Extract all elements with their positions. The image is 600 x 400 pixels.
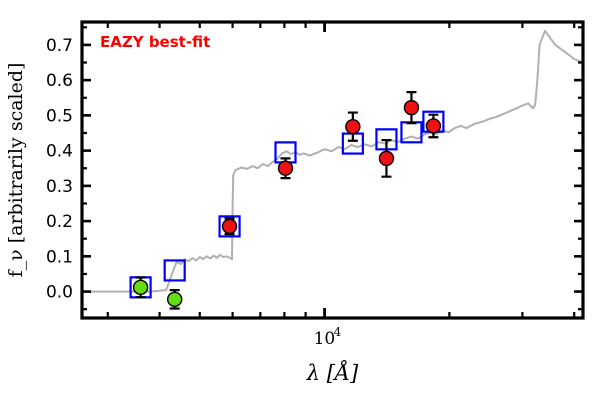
y-axis-label: f_ν [arbitrarily scaled] <box>5 63 27 278</box>
data-point-marker <box>168 292 182 306</box>
data-point-marker <box>134 280 148 294</box>
x-tick-label: 104 <box>314 325 342 349</box>
y-tick-label: 0.2 <box>46 212 73 232</box>
y-tick-label: 0.1 <box>46 247 73 267</box>
data-point-marker <box>379 151 393 165</box>
data-point-marker <box>426 119 440 133</box>
model-spectrum-line <box>82 31 583 292</box>
data-point-marker <box>223 219 237 233</box>
figure-canvas: 0.00.10.20.30.40.50.60.7104λ [Å]f_ν [arb… <box>0 0 600 400</box>
data-point-group <box>379 140 393 177</box>
y-tick-label: 0.0 <box>46 283 73 303</box>
data-point-group <box>404 92 418 123</box>
data-point-marker <box>404 101 418 115</box>
sed-plot: 0.00.10.20.30.40.50.60.7104λ [Å]f_ν [arb… <box>0 0 600 400</box>
eazy-bestfit-annotation: EAZY best-fit <box>100 33 210 51</box>
data-point-group <box>134 277 148 297</box>
axes-frame <box>82 22 583 318</box>
y-tick-label: 0.5 <box>46 106 73 126</box>
data-point-group <box>223 219 237 235</box>
x-tick-label-base: 10 <box>314 329 336 349</box>
x-tick-label-exp: 4 <box>334 325 342 339</box>
data-point-group <box>168 290 182 308</box>
y-tick-label: 0.6 <box>46 71 73 91</box>
data-point-marker <box>279 161 293 175</box>
top-mask <box>0 0 600 22</box>
x-axis-label: λ [Å] <box>306 360 359 385</box>
data-point-group <box>346 113 360 141</box>
y-tick-label: 0.7 <box>46 36 73 56</box>
data-point-marker <box>346 120 360 134</box>
y-tick-label: 0.4 <box>46 142 73 162</box>
y-tick-label: 0.3 <box>46 177 73 197</box>
